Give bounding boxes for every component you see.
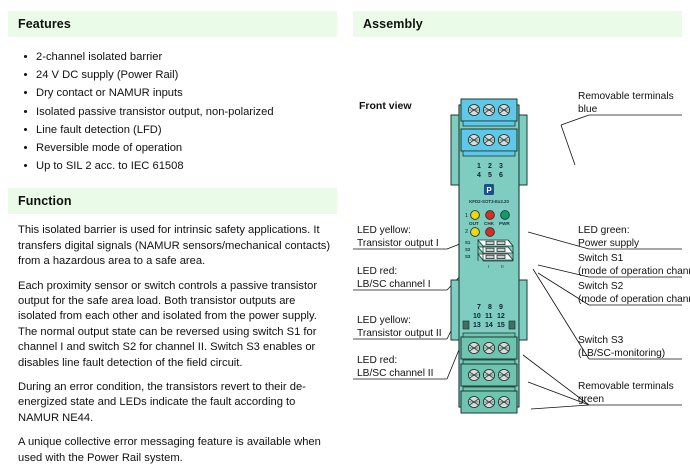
- callout-switch-s3: Switch S3 (LB/SC-monitoring): [578, 335, 665, 360]
- feature-label: Up to SIL 2 acc. to IEC 61508: [36, 160, 184, 172]
- dip-switch-block[interactable]: [478, 240, 513, 261]
- callout-line1: LED green:: [578, 225, 630, 236]
- callout-removable-terminals-blue: Removable terminals blue: [578, 91, 674, 116]
- callout-line2: (LB/SC-monitoring): [578, 348, 665, 361]
- terminal-number: 6: [499, 172, 503, 179]
- assembly-heading: Assembly: [363, 17, 423, 31]
- callout-line1: LED yellow:: [357, 225, 411, 236]
- feature-label: 24 V DC supply (Power Rail): [36, 69, 178, 81]
- features-section-header: Features: [8, 11, 337, 37]
- terminal-number: 12: [497, 313, 505, 320]
- callout-led-red-lbsc-2: LED red: LB/SC channel II: [357, 355, 433, 380]
- callout-line2: LB/SC channel II: [357, 368, 433, 381]
- function-section-header: Function: [8, 188, 337, 214]
- terminal-number: 3: [499, 163, 503, 170]
- callout-switch-s2: Switch S2 (mode of operation channel II): [578, 281, 690, 306]
- terminal-number: 9: [499, 304, 503, 311]
- callout-line1: Switch S3: [578, 335, 623, 346]
- callout-line2: (mode of operation channel II): [578, 294, 690, 307]
- feature-item: 2-channel isolated barrier: [22, 48, 337, 66]
- bullet-icon: [24, 73, 27, 76]
- terminal-number: 1: [477, 163, 481, 170]
- switch-channel-label-ii: II: [501, 264, 504, 270]
- features-list: 2-channel isolated barrier 24 V DC suppl…: [8, 37, 337, 175]
- callout-led-yellow-output-2: LED yellow: Transistor output II: [357, 315, 442, 340]
- terminal-number: 14: [485, 322, 493, 329]
- led-green-pwr: [501, 211, 510, 220]
- callout-line1: LED yellow:: [357, 315, 411, 326]
- assembly-section-header: Assembly: [353, 11, 682, 37]
- feature-item: 24 V DC supply (Power Rail): [22, 66, 337, 84]
- feature-label: Isolated passive transistor output, non-…: [36, 106, 274, 118]
- callout-line2: green: [578, 394, 674, 407]
- feature-label: Reversible mode of operation: [36, 142, 182, 154]
- feature-label: Dry contact or NAMUR inputs: [36, 87, 183, 99]
- switch-label-s3: S3: [465, 254, 471, 259]
- svg-text:P: P: [486, 186, 492, 195]
- right-column: Assembly Front view: [345, 0, 690, 441]
- terminal-number: 2: [488, 163, 492, 170]
- datasheet-page: Features 2-channel isolated barrier 24 V…: [0, 0, 690, 441]
- callout-removable-terminals-green: Removable terminals green: [578, 381, 674, 406]
- callout-line1: Removable terminals: [578, 381, 674, 392]
- terminal-number: 13: [473, 322, 481, 329]
- feature-item: Up to SIL 2 acc. to IEC 61508: [22, 157, 337, 175]
- feature-label: 2-channel isolated barrier: [36, 51, 162, 63]
- svg-text:1: 1: [465, 213, 468, 219]
- model-label: KFD2-SOT3-Ex2.20: [469, 199, 509, 204]
- callout-led-green-power: LED green: Power supply: [578, 225, 639, 250]
- feature-item: Line fault detection (LFD): [22, 121, 337, 139]
- callout-line2: Transistor output I: [357, 238, 439, 251]
- bullet-icon: [24, 146, 27, 149]
- function-heading: Function: [18, 194, 72, 208]
- terminal-number: 8: [488, 304, 492, 311]
- bullet-icon: [24, 110, 27, 113]
- led-yellow-out-1: [471, 211, 480, 220]
- terminal-number: 7: [477, 304, 481, 311]
- function-paragraph: During an error condition, the transisto…: [18, 380, 331, 426]
- terminal-number: 15: [497, 322, 505, 329]
- left-column: Features 2-channel isolated barrier 24 V…: [0, 0, 345, 441]
- bullet-icon: [24, 164, 27, 167]
- function-paragraph: Each proximity sensor or switch controls…: [18, 279, 331, 371]
- callout-led-yellow-output-1: LED yellow: Transistor output I: [357, 225, 439, 250]
- switch-label-s1: S1: [465, 240, 471, 245]
- feature-item: Reversible mode of operation: [22, 139, 337, 157]
- switch-channel-label-i: I: [488, 264, 489, 270]
- callout-line2: LB/SC channel I: [357, 279, 431, 292]
- callout-line2: Power supply: [578, 238, 639, 251]
- function-paragraph: A unique collective error messaging feat…: [18, 435, 331, 466]
- svg-text:2: 2: [465, 229, 468, 235]
- led-red-chk-2: [486, 228, 495, 237]
- led-label-pwr: PWR: [499, 221, 510, 226]
- feature-item: Dry contact or NAMUR inputs: [22, 84, 337, 102]
- terminal-number: 5: [488, 172, 492, 179]
- function-paragraph: This isolated barrier is used for intrin…: [18, 223, 331, 269]
- callout-line1: Removable terminals: [578, 91, 674, 102]
- led-yellow-out-2: [471, 228, 480, 237]
- callout-line1: LED red:: [357, 266, 397, 277]
- led-red-chk-1: [486, 211, 495, 220]
- assembly-diagram: Front view: [353, 37, 682, 427]
- callout-line2: Transistor output II: [357, 328, 442, 341]
- bullet-icon: [24, 55, 27, 58]
- bullet-icon: [24, 91, 27, 94]
- bullet-icon: [24, 128, 27, 131]
- callout-line1: LED red:: [357, 355, 397, 366]
- features-heading: Features: [18, 17, 71, 31]
- callout-led-red-lbsc-1: LED red: LB/SC channel I: [357, 266, 431, 291]
- callout-line1: Switch S1: [578, 253, 623, 264]
- led-label-chk: CHK: [484, 221, 495, 226]
- terminal-number: 4: [477, 172, 481, 179]
- feature-item: Isolated passive transistor output, non-…: [22, 103, 337, 121]
- terminal-number: 10: [473, 313, 481, 320]
- callout-switch-s1: Switch S1 (mode of operation channel I): [578, 253, 690, 278]
- led-label-out: OUT: [469, 221, 479, 226]
- callout-line2: blue: [578, 104, 674, 117]
- callout-line2: (mode of operation channel I): [578, 266, 690, 279]
- switch-label-s2: S2: [465, 247, 471, 252]
- terminal-number: 11: [485, 313, 493, 320]
- callout-line1: Switch S2: [578, 281, 623, 292]
- feature-label: Line fault detection (LFD): [36, 124, 162, 136]
- function-body: This isolated barrier is used for intrin…: [8, 214, 337, 466]
